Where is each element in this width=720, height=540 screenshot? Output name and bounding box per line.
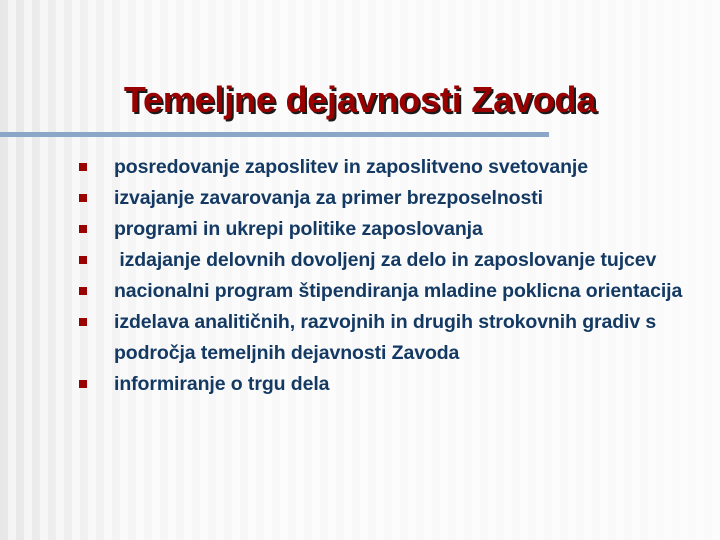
square-bullet-icon	[79, 256, 87, 264]
list-item: posredovanje zaposlitev in zaposlitveno …	[78, 152, 703, 183]
list-item-label: nacionalni program štipendiranja mladine…	[114, 276, 703, 307]
list-item-label: izvajanje zavarovanja za primer brezpose…	[114, 183, 703, 214]
list-item: nacionalni program štipendiranja mladine…	[78, 276, 703, 307]
slide-content: Temeljne dejavnosti Zavoda posredovanje …	[0, 0, 720, 540]
square-bullet-icon	[79, 318, 87, 326]
list-item: programi in ukrepi politike zaposlovanja	[78, 214, 703, 245]
bullet-list: posredovanje zaposlitev in zaposlitveno …	[78, 152, 703, 400]
list-item-label: programi in ukrepi politike zaposlovanja	[114, 214, 703, 245]
list-item-label: posredovanje zaposlitev in zaposlitveno …	[114, 152, 703, 183]
list-item-label: izdelava analitičnih, razvojnih in drugi…	[114, 307, 703, 369]
list-item: izdelava analitičnih, razvojnih in drugi…	[78, 307, 703, 369]
square-bullet-icon	[79, 163, 87, 171]
slide-title: Temeljne dejavnosti Zavoda	[0, 78, 720, 122]
title-divider-rule	[0, 132, 549, 137]
list-item: izvajanje zavarovanja za primer brezpose…	[78, 183, 703, 214]
square-bullet-icon	[79, 194, 87, 202]
list-item: informiranje o trgu dela	[78, 369, 703, 400]
presentation-slide: Temeljne dejavnosti Zavoda posredovanje …	[0, 0, 720, 540]
list-item: izdajanje delovnih dovoljenj za delo in …	[78, 245, 703, 276]
square-bullet-icon	[79, 287, 87, 295]
square-bullet-icon	[79, 380, 87, 388]
square-bullet-icon	[79, 225, 87, 233]
list-item-label: informiranje o trgu dela	[114, 369, 703, 400]
list-item-label: izdajanje delovnih dovoljenj za delo in …	[114, 245, 703, 276]
